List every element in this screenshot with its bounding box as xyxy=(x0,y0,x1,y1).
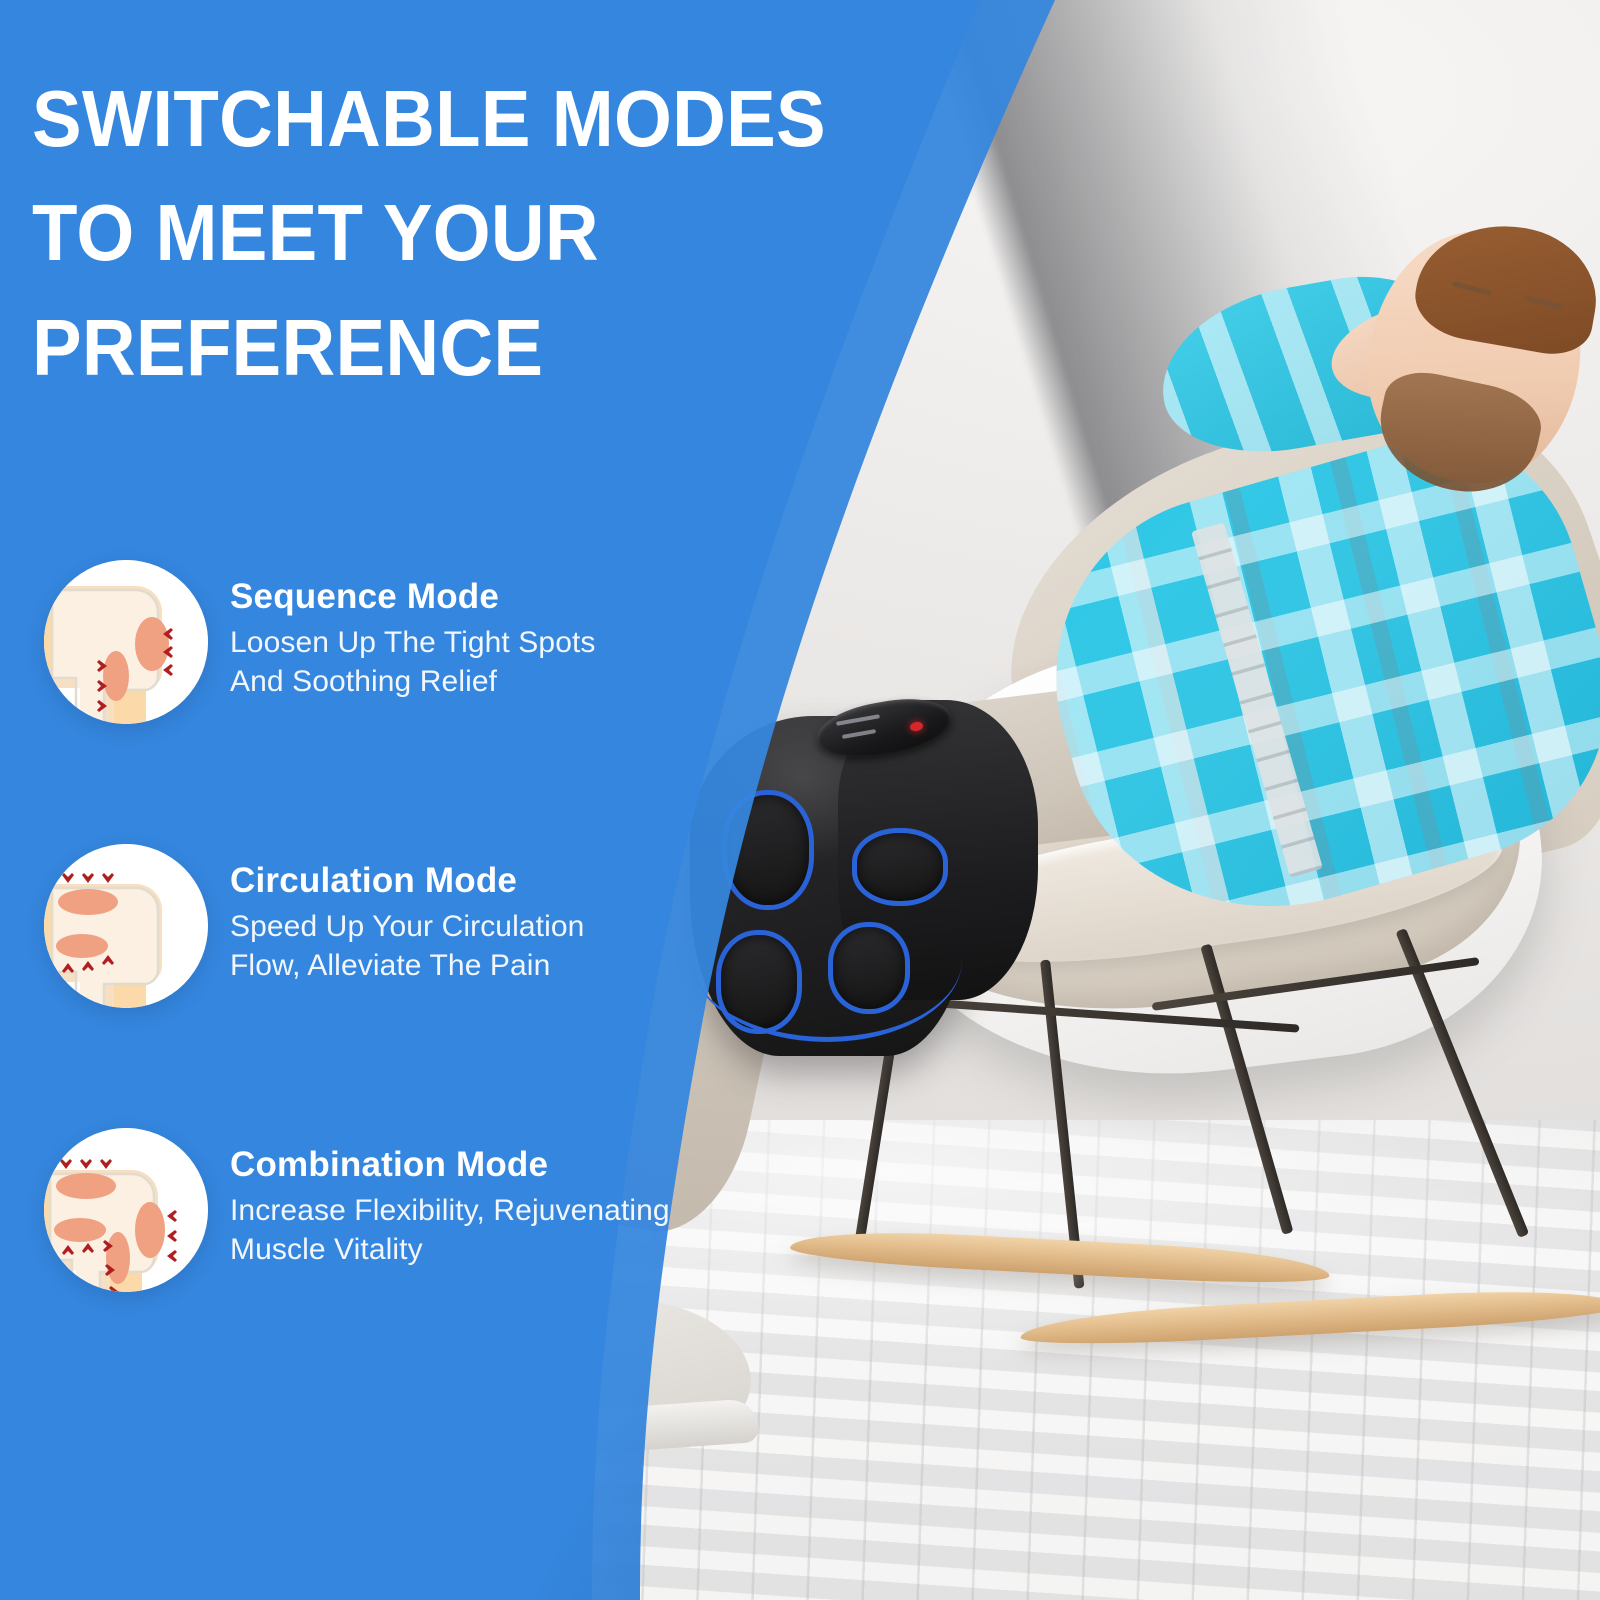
knee-combination-icon xyxy=(44,1128,208,1292)
feature-description: Loosen Up The Tight Spots And Soothing R… xyxy=(230,623,596,701)
feature-item-combination-mode[interactable]: Combination Mode Increase Flexibility, R… xyxy=(44,1128,704,1292)
feature-description: Increase Flexibility, Rejuvenating Muscl… xyxy=(230,1191,670,1269)
page-title: SWITCHABLE MODES TO MEET YOUR PREFERENCE xyxy=(32,62,869,405)
feature-list: Sequence Mode Loosen Up The Tight Spots … xyxy=(44,560,704,1292)
feature-title: Circulation Mode xyxy=(230,862,584,901)
feature-text-circulation: Circulation Mode Speed Up Your Circulati… xyxy=(230,844,584,985)
feature-item-sequence-mode[interactable]: Sequence Mode Loosen Up The Tight Spots … xyxy=(44,560,704,724)
product-feature-poster: SWITCHABLE MODES TO MEET YOUR PREFERENCE xyxy=(0,0,1600,1600)
feature-title: Combination Mode xyxy=(230,1146,670,1185)
feature-title: Sequence Mode xyxy=(230,578,596,617)
feature-text-sequence: Sequence Mode Loosen Up The Tight Spots … xyxy=(230,560,596,701)
feature-description: Speed Up Your Circulation Flow, Alleviat… xyxy=(230,907,584,985)
feature-text-combination: Combination Mode Increase Flexibility, R… xyxy=(230,1128,670,1269)
knee-circulation-icon xyxy=(44,844,208,1008)
poster-content: SWITCHABLE MODES TO MEET YOUR PREFERENCE xyxy=(0,0,1600,1600)
feature-item-circulation-mode[interactable]: Circulation Mode Speed Up Your Circulati… xyxy=(44,844,704,1008)
knee-sequence-icon xyxy=(44,560,208,724)
